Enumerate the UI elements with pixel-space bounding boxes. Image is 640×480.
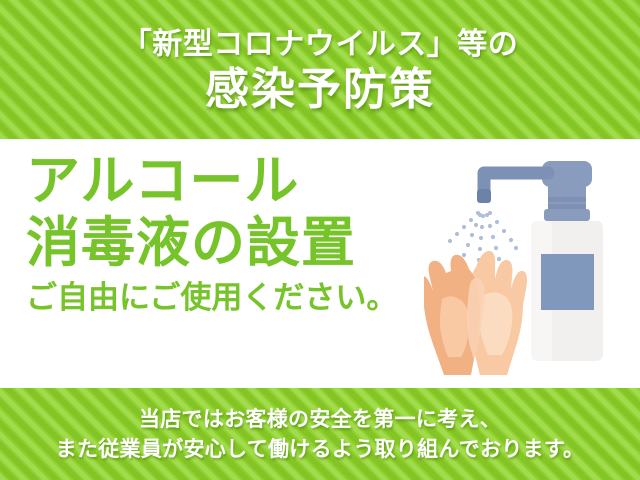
header-banner: 「新型コロナウイルス」等の 感染予防策 — [0, 0, 640, 139]
main-content-panel: アルコール 消毒液の設置 ご自由にご使用ください。 — [0, 139, 640, 388]
footer-line-1: 当店ではお客様の安全を第一に考え、 — [139, 404, 501, 434]
headline-block: アルコール 消毒液の設置 ご自由にご使用ください。 — [26, 151, 426, 317]
footer-line-2: また従業員が安心して働けるよう取り組んでおります。 — [56, 434, 585, 464]
headline-line-1: アルコール — [26, 151, 426, 211]
nozzle-arm-icon — [477, 173, 548, 203]
headline-line-2: 消毒液の設置 — [26, 213, 426, 273]
bottle-label-icon — [541, 254, 594, 310]
header-subtitle: 「新型コロナウイルス」等の — [122, 29, 519, 61]
footer-banner: 当店ではお客様の安全を第一に考え、 また従業員が安心して働けるよう取り組んでおり… — [0, 388, 640, 480]
covid-prevention-poster: 「新型コロナウイルス」等の 感染予防策 アルコール 消毒液の設置 ご自由にご使用… — [0, 0, 640, 480]
headline-line-3: ご自由にご使用ください。 — [26, 280, 426, 317]
header-title: 感染予防策 — [205, 65, 435, 114]
cupped-hands-icon — [424, 251, 527, 375]
sanitizer-illustration — [424, 147, 630, 383]
